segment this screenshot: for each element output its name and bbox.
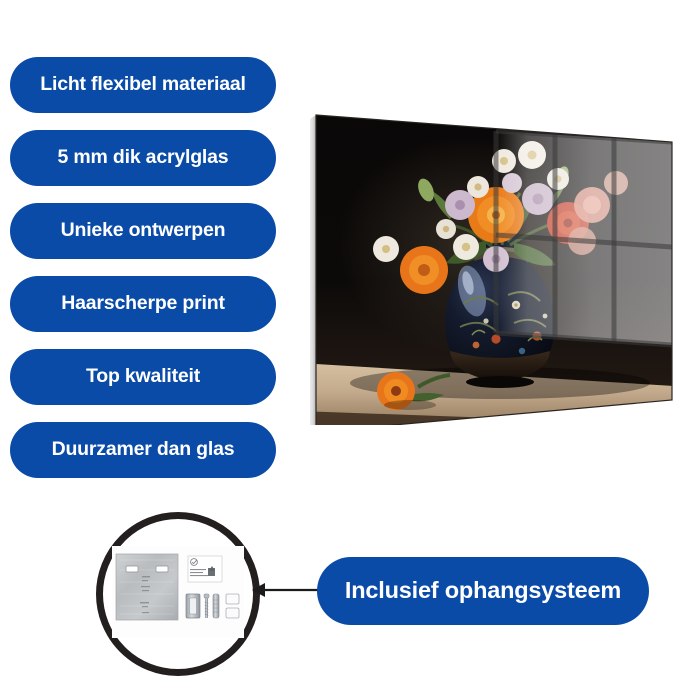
wall-plug	[213, 594, 219, 618]
feature-label: Unieke ontwerpen	[61, 221, 226, 241]
feature-pill-5[interactable]: Top kwaliteit	[10, 349, 276, 405]
arrow-left-icon	[252, 583, 265, 597]
feature-list: Licht flexibel materiaal 5 mm dik acrylg…	[10, 57, 276, 495]
feature-pill-6[interactable]: Duurzamer dan glas	[10, 422, 276, 478]
feature-pill-1[interactable]: Licht flexibel materiaal	[10, 57, 276, 113]
mounting-plate	[116, 554, 178, 620]
acrylic-panel	[300, 95, 690, 425]
wall-bracket-clip	[186, 594, 200, 618]
callout-pill-hanging-system[interactable]: Inclusief ophangsysteem	[317, 557, 649, 625]
feature-label: Haarscherpe print	[61, 294, 225, 314]
callout-leader-line	[248, 566, 328, 614]
callout-label: Inclusief ophangsysteem	[345, 579, 621, 603]
product-feature-graphic: Licht flexibel materiaal 5 mm dik acrylg…	[0, 0, 700, 700]
hanging-kit-photo	[112, 546, 244, 638]
hanging-kit-circle	[96, 512, 260, 676]
feature-label: Duurzamer dan glas	[52, 440, 235, 460]
spacer-square-top	[226, 594, 239, 604]
acrylic-panel-svg	[300, 95, 690, 425]
feature-label: Licht flexibel materiaal	[40, 75, 245, 95]
feature-label: 5 mm dik acrylglas	[58, 148, 229, 168]
feature-pill-4[interactable]: Haarscherpe print	[10, 276, 276, 332]
feature-pill-3[interactable]: Unieke ontwerpen	[10, 203, 276, 259]
feature-pill-2[interactable]: 5 mm dik acrylglas	[10, 130, 276, 186]
feature-label: Top kwaliteit	[86, 367, 200, 387]
flower-gerbera-left	[400, 246, 448, 294]
panel-face	[300, 95, 690, 425]
panel-edge-thickness	[310, 115, 316, 425]
instruction-card	[188, 556, 222, 582]
spacer-square-bottom	[226, 608, 239, 618]
artwork-window-reflection	[496, 131, 672, 345]
